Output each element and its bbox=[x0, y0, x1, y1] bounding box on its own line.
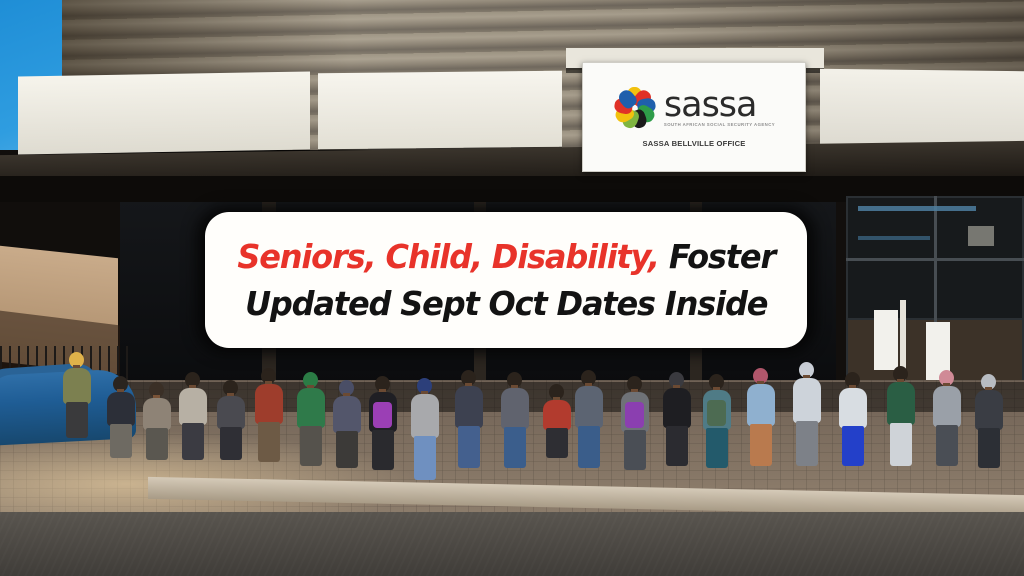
person-figure bbox=[540, 384, 574, 450]
sassa-office-sign: sassa SOUTH AFRICAN SOCIAL SECURITY AGEN… bbox=[582, 62, 806, 172]
person-torso bbox=[793, 378, 821, 423]
person-figure bbox=[498, 372, 532, 462]
person-torso bbox=[143, 398, 171, 430]
person-figure bbox=[572, 370, 606, 462]
sassa-tagline: SOUTH AFRICAN SOCIAL SECURITY AGENCY bbox=[664, 122, 775, 127]
person-figure bbox=[836, 372, 870, 460]
person-legs bbox=[66, 402, 88, 438]
person-legs bbox=[258, 422, 280, 462]
person-legs bbox=[146, 428, 168, 460]
person-torso bbox=[333, 396, 361, 433]
person-legs bbox=[414, 436, 436, 480]
person-figure bbox=[252, 368, 286, 454]
person-figure bbox=[408, 378, 442, 474]
wall-notice-papers bbox=[968, 226, 994, 246]
person-legs bbox=[458, 426, 480, 468]
person-legs bbox=[666, 426, 688, 466]
person-legs bbox=[110, 424, 132, 458]
person-figure bbox=[294, 372, 328, 458]
headline-card: Seniors, Child, Disability, Foster Updat… bbox=[205, 212, 807, 348]
person-torso bbox=[255, 384, 283, 424]
ceiling-light-tube bbox=[858, 236, 930, 240]
white-concrete-fascia bbox=[18, 71, 310, 154]
person-figure bbox=[660, 372, 694, 460]
person-bag bbox=[373, 402, 392, 428]
person-figure bbox=[366, 376, 400, 462]
person-torso bbox=[575, 386, 603, 428]
person-figure bbox=[452, 370, 486, 462]
person-torso bbox=[933, 386, 961, 427]
person-torso bbox=[975, 390, 1003, 430]
person-torso bbox=[297, 388, 325, 428]
person-legs bbox=[372, 430, 394, 470]
person-legs bbox=[706, 428, 728, 468]
person-torso bbox=[63, 368, 91, 404]
person-torso bbox=[107, 392, 135, 426]
person-torso bbox=[455, 386, 483, 428]
ceiling-light-tube bbox=[858, 206, 976, 211]
person-legs bbox=[796, 421, 818, 466]
person-legs bbox=[890, 423, 912, 466]
person-legs bbox=[624, 430, 646, 470]
person-torso bbox=[411, 394, 439, 438]
person-torso bbox=[543, 400, 571, 430]
person-torso bbox=[217, 396, 245, 429]
person-figure bbox=[930, 370, 964, 460]
person-figure bbox=[700, 374, 734, 460]
person-figure bbox=[60, 352, 94, 430]
headline-line-1: Seniors, Child, Disability, Foster bbox=[237, 240, 775, 273]
headline-black-text: Foster bbox=[659, 237, 775, 276]
person-figure bbox=[176, 372, 210, 452]
person-figure bbox=[618, 376, 652, 462]
person-figure bbox=[972, 374, 1006, 462]
person-legs bbox=[750, 424, 772, 466]
sassa-wordmark: sassa bbox=[664, 89, 757, 121]
person-legs bbox=[300, 426, 322, 466]
person-torso bbox=[747, 384, 775, 426]
white-concrete-fascia bbox=[820, 69, 1024, 151]
white-concrete-fascia bbox=[318, 71, 562, 150]
wall-notice-papers bbox=[874, 310, 898, 370]
person-legs bbox=[336, 431, 358, 468]
asphalt-road bbox=[0, 512, 1024, 576]
person-torso bbox=[839, 388, 867, 428]
person-torso bbox=[663, 388, 691, 428]
person-figure bbox=[744, 368, 778, 460]
person-figure bbox=[214, 380, 248, 452]
thumbnail-image: sassa SOUTH AFRICAN SOCIAL SECURITY AGEN… bbox=[0, 0, 1024, 576]
person-legs bbox=[842, 426, 864, 466]
person-figure bbox=[884, 366, 918, 460]
person-bag bbox=[625, 402, 644, 428]
person-figure bbox=[330, 380, 364, 460]
person-torso bbox=[501, 388, 529, 429]
person-legs bbox=[978, 428, 1000, 468]
headline-red-text: Seniors, Child, Disability, bbox=[237, 237, 659, 276]
headline-line-2: Updated Sept Oct Dates Inside bbox=[245, 287, 767, 320]
person-legs bbox=[546, 428, 568, 458]
person-torso bbox=[179, 388, 207, 425]
sassa-hands-logo bbox=[613, 86, 657, 130]
sassa-office-name: SASSA BELLVILLE OFFICE bbox=[642, 139, 745, 148]
person-figure bbox=[140, 382, 174, 452]
person-figure bbox=[104, 376, 138, 450]
person-figure bbox=[790, 362, 824, 460]
person-legs bbox=[182, 423, 204, 460]
person-legs bbox=[578, 426, 600, 468]
person-legs bbox=[936, 425, 958, 466]
person-legs bbox=[504, 427, 526, 468]
person-bag bbox=[707, 400, 726, 426]
window-mullion bbox=[846, 258, 1024, 261]
person-torso bbox=[887, 382, 915, 425]
person-legs bbox=[220, 427, 242, 460]
